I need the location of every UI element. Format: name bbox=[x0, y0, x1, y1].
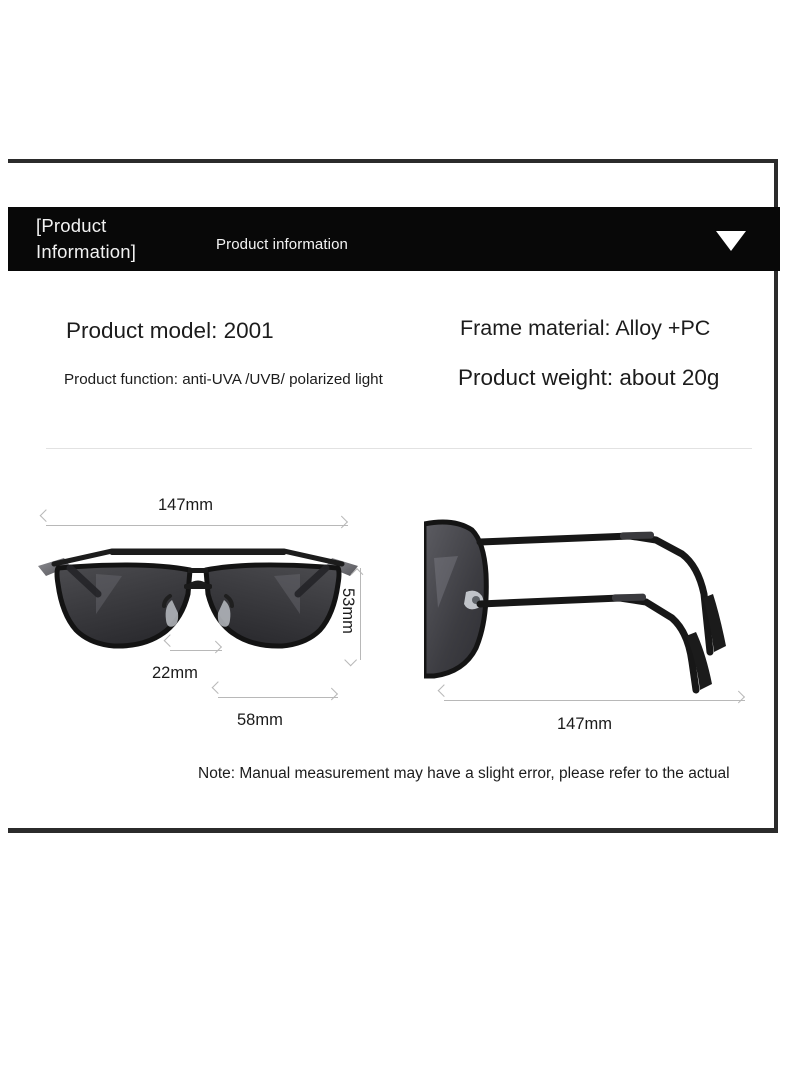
dimension-label-total-width: 147mm bbox=[158, 496, 213, 515]
dimension-arrow-temple-length bbox=[444, 700, 745, 701]
measurement-note: Note: Manual measurement may have a slig… bbox=[198, 765, 730, 783]
dimension-label-lens-height: 53mm bbox=[338, 588, 357, 634]
dimension-label-bridge: 22mm bbox=[152, 664, 198, 683]
dimension-arrow-bridge bbox=[170, 650, 222, 651]
spec-product-weight: Product weight: about 20g bbox=[458, 365, 719, 391]
dimension-arrow-lens-height bbox=[360, 568, 361, 660]
spec-product-model: Product model: 2001 bbox=[66, 318, 274, 344]
header-title: [Product Information] bbox=[36, 213, 206, 265]
dimension-label-temple-length: 147mm bbox=[557, 715, 612, 734]
frame-border-bottom bbox=[8, 828, 778, 833]
dimension-label-lens-width: 58mm bbox=[237, 711, 283, 730]
dimension-arrow-lens-width bbox=[218, 697, 338, 698]
header-subtitle: Product information bbox=[216, 236, 348, 253]
frame-border-top bbox=[8, 159, 778, 163]
spec-frame-material: Frame material: Alloy +PC bbox=[460, 316, 710, 341]
section-divider bbox=[46, 448, 752, 449]
sunglasses-front-view bbox=[24, 528, 372, 668]
product-information-page: [Product Information] Product informatio… bbox=[0, 0, 800, 1091]
sunglasses-side-view bbox=[424, 512, 764, 694]
product-information-header[interactable]: [Product Information] Product informatio… bbox=[8, 207, 780, 271]
dimension-arrow-total-width bbox=[46, 525, 348, 526]
spec-product-function: Product function: anti-UVA /UVB/ polariz… bbox=[64, 371, 383, 388]
chevron-down-icon[interactable] bbox=[716, 231, 746, 251]
